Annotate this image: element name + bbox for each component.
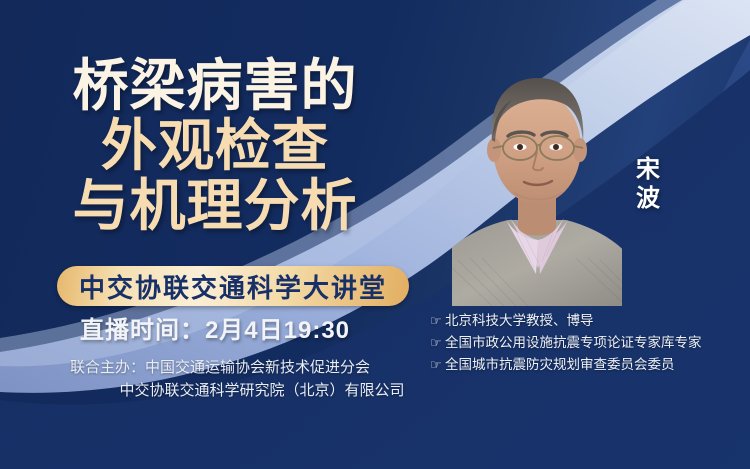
series-badge: 中交协联交通科学大讲堂 xyxy=(57,266,409,306)
organizer-line-2: 中交协联交通科学研究院（北京）有限公司 xyxy=(0,380,440,403)
title-line-2: 外观检查 xyxy=(0,118,430,174)
speaker-credentials: ☞ 北京科技大学教授、博导 ☞ 全国市政公用设施抗震专项论证专家库专家 ☞ 全国… xyxy=(430,310,702,376)
poster-title: 桥梁病害的 外观检查 与机理分析 xyxy=(0,58,430,234)
speaker-portrait xyxy=(452,62,622,306)
pointing-hand-icon: ☞ xyxy=(430,354,445,375)
speaker-name-char-1: 宋 xyxy=(627,155,669,184)
title-line-1: 桥梁病害的 xyxy=(0,58,430,114)
portrait-illustration xyxy=(452,62,622,306)
credential-text: 全国城市抗震防灾规划审查委员会委员 xyxy=(445,354,675,376)
broadcast-time: 直播时间：2月4日19:30 xyxy=(0,310,430,345)
credential-text: 北京科技大学教授、博导 xyxy=(445,310,594,332)
organizers-block: 联合主办：中国交通运输协会新技术促进分会 中交协联交通科学研究院（北京）有限公司 xyxy=(0,357,440,402)
credential-item: ☞ 全国市政公用设施抗震专项论证专家库专家 xyxy=(430,332,702,354)
organizer-line-1: 联合主办：中国交通运输协会新技术促进分会 xyxy=(0,357,440,380)
pointing-hand-icon: ☞ xyxy=(430,310,445,331)
title-line-3: 与机理分析 xyxy=(0,178,430,234)
credential-item: ☞ 北京科技大学教授、博导 xyxy=(430,310,702,332)
webinar-poster: 宋 波 桥梁病害的 外观检查 与机理分析 中交协联交通科学大讲堂 直播时间：2月… xyxy=(0,0,750,469)
series-badge-label: 中交协联交通科学大讲堂 xyxy=(79,268,387,305)
pointing-hand-icon: ☞ xyxy=(430,332,445,353)
credential-text: 全国市政公用设施抗震专项论证专家库专家 xyxy=(445,332,702,354)
speaker-name: 宋 波 xyxy=(627,155,669,214)
credential-item: ☞ 全国城市抗震防灾规划审查委员会委员 xyxy=(430,354,702,376)
speaker-name-char-2: 波 xyxy=(627,184,669,213)
